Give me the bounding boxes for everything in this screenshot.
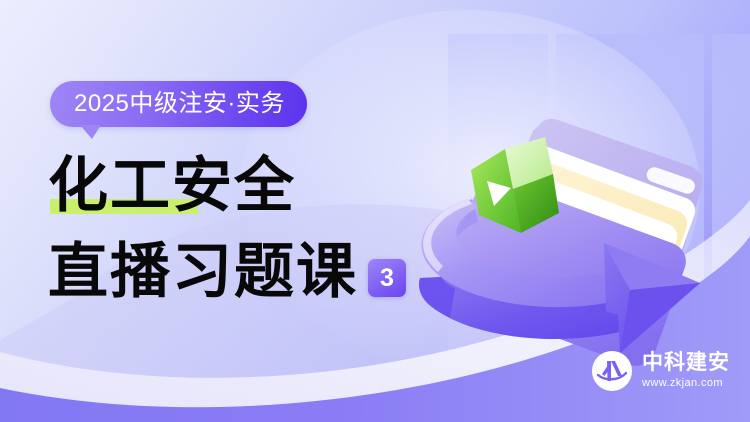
zkjan-circle-logo-icon xyxy=(591,350,633,392)
brand-logo[interactable]: 中科建安 www.zkjan.com xyxy=(591,350,730,392)
brand-url: www.zkjan.com xyxy=(642,376,730,391)
brand-name: 中科建安 xyxy=(642,351,730,374)
course-category-label: 2025中级注安·实务 xyxy=(74,92,285,116)
episode-number-badge: 3 xyxy=(368,259,406,297)
badge-tail-icon xyxy=(80,125,101,139)
brand-logo-text: 中科建安 www.zkjan.com xyxy=(642,351,730,391)
course-title-line-2-row: 直播习题课 3 xyxy=(48,238,406,302)
course-title-line-1-row: 化工安全 xyxy=(48,152,406,216)
episode-number-label: 3 xyxy=(380,266,394,291)
course-category-badge: 2025中级注安·实务 xyxy=(50,81,307,127)
course-title-block: 化工安全 直播习题课 3 xyxy=(48,152,406,302)
course-banner: 2025中级注安·实务 化工安全 直播习题课 3 中科建安 www.zkjan.… xyxy=(0,0,750,422)
course-title-line-1: 化工安全 xyxy=(48,156,296,216)
course-title-line-2: 直播习题课 xyxy=(48,242,358,302)
